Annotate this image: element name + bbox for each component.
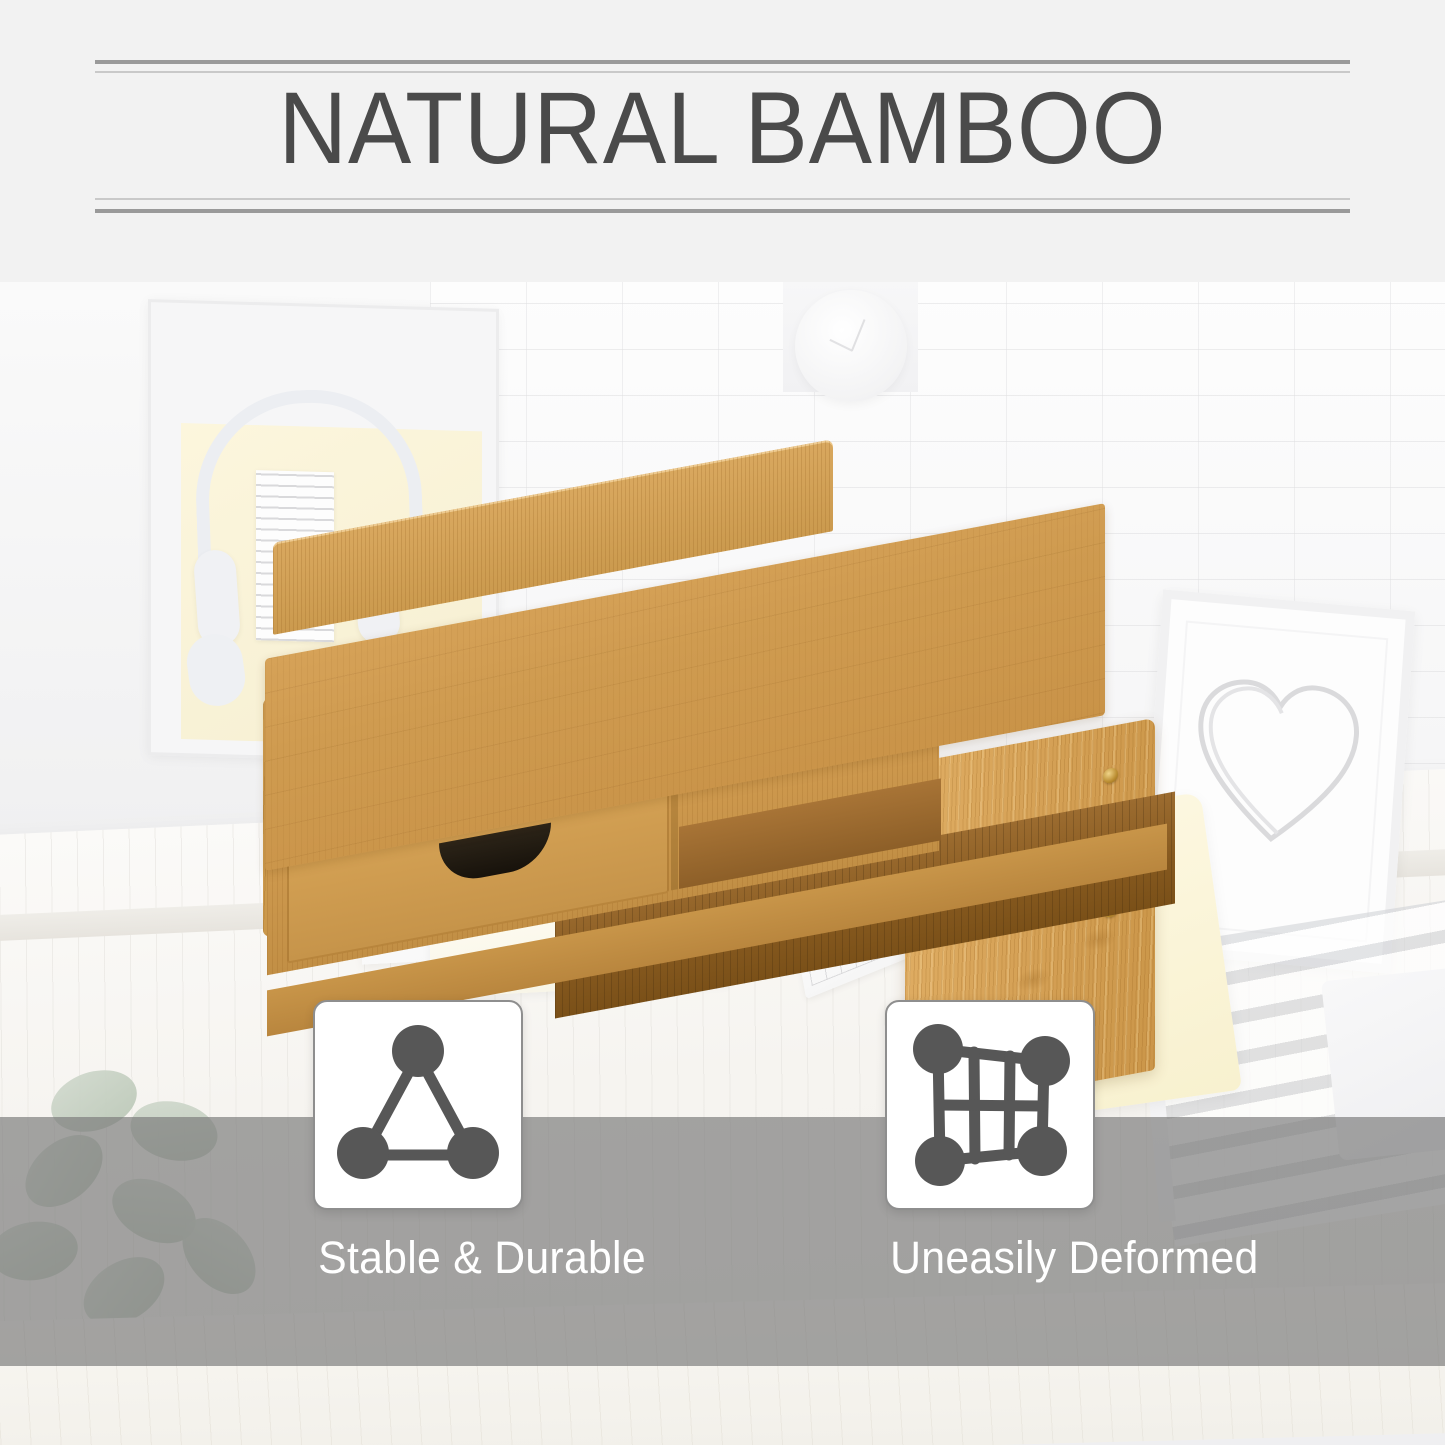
- poster-header: NATURAL BAMBOO: [0, 0, 1445, 282]
- page-title: NATURAL BAMBOO: [51, 74, 1395, 182]
- feature-card-uneasily-deformed[interactable]: [885, 1000, 1095, 1210]
- rule-thick-line: [95, 60, 1350, 64]
- rule-thin-line: [95, 198, 1350, 200]
- headphone-earcup-left: [193, 549, 242, 648]
- header-rule-bottom: [95, 198, 1350, 213]
- triangle-nodes-icon: [332, 1019, 504, 1191]
- feature-card-stable-durable[interactable]: [313, 1000, 523, 1210]
- feature-label-uneasily-deformed: Uneasily Deformed: [890, 1232, 1086, 1284]
- feature-label-stable-durable: Stable & Durable: [318, 1232, 514, 1284]
- compartment-divider: [671, 789, 678, 890]
- product-marketing-poster: NATURAL BAMBOO: [0, 0, 1445, 1445]
- wall-clock-icon: [795, 290, 907, 402]
- grid-mesh-nodes-icon: [904, 1019, 1076, 1191]
- heart-icon: [1180, 653, 1373, 868]
- rule-thick-line: [95, 209, 1350, 213]
